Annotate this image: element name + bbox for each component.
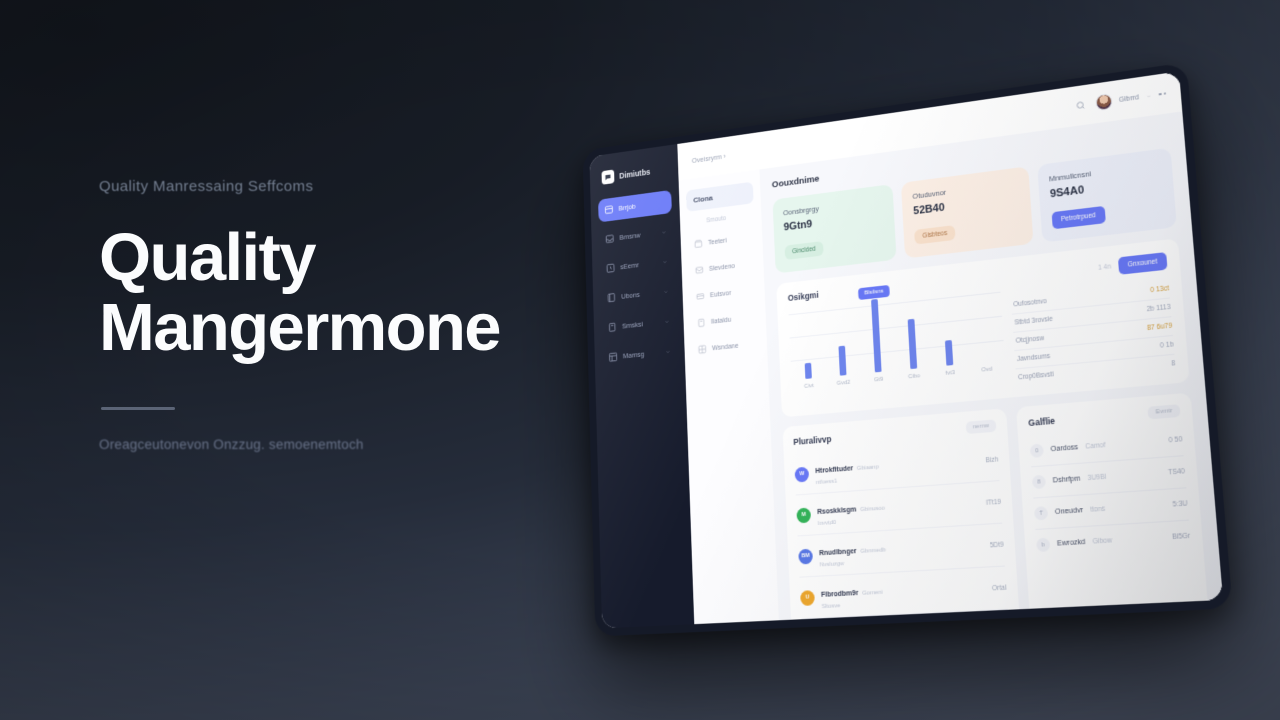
list-item-tag: Gbinusoo: [860, 505, 885, 513]
list-item-value: ITt19: [986, 498, 1001, 506]
card-icon: [696, 291, 705, 301]
avatar: W: [795, 466, 810, 482]
list-item-name: Flbrodbm9r: [821, 590, 859, 599]
list-item-tag: Gbiaanp: [857, 464, 879, 472]
bar-slot[interactable]: [788, 305, 826, 380]
sidebar-item-bmsnw[interactable]: Bmsnw: [599, 219, 673, 251]
subnav-label: Eutsvor: [710, 290, 731, 299]
chart-bar[interactable]: [838, 346, 846, 376]
chevron-down-icon: [661, 229, 666, 235]
page-title: Quality Mangermone: [99, 225, 569, 360]
bar-slot[interactable]: Blsilsns: [857, 297, 896, 373]
hero-title-line-1: Quality: [99, 220, 315, 295]
kpi-card[interactable]: Mnmullcnsni 9S4A0 Petrotrpued: [1037, 148, 1177, 243]
sidebar-label: Mamsg: [623, 350, 644, 361]
subnav-item-wsndane[interactable]: Wsndane: [691, 333, 760, 361]
chart-plot-area: Blsilsns: [788, 286, 1005, 381]
chart-bar[interactable]: [805, 362, 812, 378]
list-item-name: Rsoskklsgm: [817, 506, 856, 516]
bar-slot[interactable]: [927, 290, 968, 367]
subnav-label: Slevdeno: [709, 263, 735, 273]
stat-value: 0 1b: [1160, 341, 1174, 350]
file-icon: [607, 322, 617, 333]
stat-value: 8: [1171, 360, 1175, 368]
stat-name: Crop0Bsvsti: [1018, 371, 1054, 381]
list-item-meta: Flbrodbm9rGomeniSltosve: [821, 575, 986, 610]
topbar-actions: Glbrrd: [1073, 85, 1167, 114]
panel-action-button[interactable]: nernw: [965, 419, 996, 434]
chevron-down-icon: [664, 318, 669, 324]
bar-slot[interactable]: [963, 286, 1004, 364]
archive-icon: [694, 239, 703, 249]
bar-chart: Osikgmi Blsilsns CivtGvd2Gt9Cibofvt3Ovd: [788, 270, 1007, 407]
avatar: M: [796, 507, 811, 523]
layers-icon: [698, 344, 707, 354]
stat-name: Stbtd 3rovsie: [1014, 316, 1053, 327]
list-item-name: Htrokfituder: [815, 465, 853, 475]
grid-icon: [608, 351, 618, 362]
chevron-down-icon: [665, 348, 670, 354]
panel-title: Pluralivvp: [793, 434, 831, 447]
device-stage: Dimiutbs Brrjob Bmsnw sEemr: [556, 100, 1216, 630]
subnav-title[interactable]: Clona: [686, 182, 754, 212]
row-value: 5:3U: [1172, 500, 1188, 508]
stat-name: Otcjjnosw: [1015, 335, 1044, 345]
chevron-down-icon[interactable]: [1146, 93, 1152, 99]
breadcrumb[interactable]: Oveisryrm ›: [692, 151, 726, 164]
list-item-tag: Gbnmedb: [860, 547, 886, 555]
row-badge: 8: [1032, 475, 1046, 489]
chart-bar[interactable]: [908, 318, 918, 369]
panel-title: Galflie: [1028, 416, 1055, 428]
subnav-label: Teeteri: [708, 237, 727, 246]
row-badge: 0: [1030, 444, 1044, 458]
avatar: U: [800, 590, 815, 606]
stat-name: Javndsums: [1017, 353, 1051, 363]
kpi-card[interactable]: Oonsbrgrgy 9Gtn9 Ginclded: [772, 184, 896, 274]
dashboard-content: Oouxdnime Oonsbrgrgy 9Gtn9 Ginclded Otud…: [759, 111, 1223, 620]
chart-bar[interactable]: [871, 299, 882, 372]
x-tick-label: fvt3: [932, 369, 969, 378]
row-name: Ewrozkd: [1057, 539, 1086, 548]
row-value: TS40: [1168, 468, 1185, 477]
row-badge: T: [1034, 506, 1048, 520]
kpi-card[interactable]: Otuduvnor 52B40 Gisbteos: [901, 166, 1033, 258]
list-item-meta: Hmnvtumtu: [823, 618, 1003, 621]
row-value: 0 50: [1168, 436, 1182, 444]
x-tick-label: Ovd: [968, 365, 1005, 374]
chart-action-button[interactable]: Gnxounet: [1118, 252, 1168, 275]
subnav-item-ilataldu[interactable]: Ilataldu: [690, 306, 759, 334]
sidebar-item-ubons[interactable]: Ubons: [601, 279, 675, 311]
tablet-frame: Dimiutbs Brrjob Bmsnw sEemr: [583, 62, 1233, 636]
schedule-panel: Galflie Evmtr 0OardossCamof0 508Dshrfpm3…: [1016, 393, 1210, 621]
row-badge: b: [1036, 538, 1050, 552]
row-name: Oardoss: [1051, 444, 1079, 453]
inbox-icon: [605, 233, 615, 244]
x-tick-label: Gvd2: [826, 379, 861, 388]
subnav-item-slevdeno[interactable]: Slevdeno: [688, 253, 756, 282]
x-tick-label: Cibo: [896, 372, 932, 381]
mail-icon: [695, 265, 704, 275]
bottom-panels: Pluralivvp nernw WHtrokfituderGbiaanpntf…: [783, 393, 1211, 621]
sidebar-item-smsksi[interactable]: Smsksi: [601, 309, 676, 340]
chevron-down-icon: [662, 259, 667, 265]
row-description: Gibow: [1092, 537, 1112, 546]
brand-name: Dimiutbs: [619, 167, 650, 180]
chart-bar[interactable]: [945, 340, 953, 366]
list-item-value: 5Dt9: [990, 541, 1004, 549]
list-item-subtitle: Sltosve: [822, 596, 986, 610]
chart-tooltip: Blsilsns: [858, 285, 889, 300]
sidebar-label: Brrjob: [618, 202, 635, 212]
list-item-name: Rnudlbnger: [819, 548, 857, 557]
row-description: Camof: [1085, 442, 1106, 451]
kpi-action-button[interactable]: Petrotrpued: [1051, 206, 1105, 229]
primary-sidebar: Dimiutbs Brrjob Bmsnw sEemr: [589, 144, 694, 628]
stat-value: 2b 1113: [1146, 304, 1170, 314]
row-description: 3U9Bl: [1087, 474, 1106, 483]
subnav-item-eutsvor[interactable]: Eutsvor: [689, 280, 757, 308]
chart-stats: 1 4n Gnxounet Oufosotnvo0 13ctStbtd 3rov…: [1009, 251, 1176, 387]
bar-slot[interactable]: [892, 294, 932, 371]
stat-name: Oufosotnvo: [1013, 298, 1047, 309]
dashboard-icon: [604, 204, 614, 215]
hero-subtitle: Oreagceutonevon Onzzug. semoenemtoch: [99, 437, 569, 452]
chevron-down-icon: [663, 288, 668, 294]
subnav-label: Wsndane: [712, 342, 739, 351]
chart-range-label[interactable]: 1 4n: [1098, 263, 1112, 272]
hero-section: Quality Manressaing Seffcoms Quality Man…: [99, 178, 569, 452]
stat-value: 0 13ct: [1150, 285, 1169, 294]
avatar[interactable]: [1095, 93, 1113, 111]
note-icon: [697, 318, 706, 328]
sidebar-label: Smsksi: [622, 320, 643, 331]
row-name: Oneudvr: [1055, 507, 1083, 516]
row-name: Dshrfpm: [1053, 475, 1081, 484]
x-tick-label: Gt9: [861, 375, 897, 384]
more-dots-icon[interactable]: [1159, 92, 1167, 96]
subnav-label: Ilataldu: [711, 316, 731, 325]
list-item-tag: Gomeni: [862, 590, 883, 597]
row-description: ttons: [1090, 506, 1105, 514]
username-label: Glbrrd: [1119, 94, 1140, 104]
hero-eyebrow: Quality Manressaing Seffcoms: [99, 178, 569, 195]
search-icon[interactable]: [1073, 97, 1089, 114]
activity-panel: Pluralivvp nernw WHtrokfituderGbiaanpntf…: [783, 408, 1022, 620]
clock-icon: [606, 263, 616, 274]
row-value: Bi5Gr: [1172, 533, 1191, 542]
hero-title-line-2: Mangermone: [99, 295, 569, 361]
app-logo-icon: [601, 169, 614, 184]
sidebar-label: Bmsnw: [619, 231, 640, 242]
list-item-meta: HtrokfituderGbiaanpntfoess1: [815, 448, 980, 487]
book-icon: [607, 292, 617, 303]
avatar: BM: [798, 548, 813, 564]
stat-value: 87 6u79: [1147, 322, 1173, 332]
list-item-value: Ortal: [992, 584, 1007, 592]
list-item-meta: RnudlbngerGbnmedbNvsluzgw: [819, 532, 984, 568]
list-item-meta: RsoskklsgmGbinusooInvvtd0: [817, 490, 980, 527]
list-item-value: Bizh: [985, 456, 998, 464]
divider: [101, 407, 175, 410]
sidebar-label: Ubons: [621, 290, 640, 300]
content-row: Clona Smouto Teeteri Slevdeno: [679, 111, 1223, 624]
sidebar-item-mamsg[interactable]: Mamsg: [602, 339, 677, 370]
bar-slot[interactable]: [822, 301, 860, 377]
sidebar-label: sEemr: [620, 261, 639, 272]
x-tick-label: Civt: [792, 382, 827, 391]
dashboard-screen: Dimiutbs Brrjob Bmsnw sEemr: [589, 71, 1223, 628]
status-badge: Ginclded: [785, 241, 824, 260]
status-badge: Gisbteos: [914, 225, 955, 244]
main-pane: Oveisryrm › Glbrrd Clona Smouto: [677, 71, 1223, 624]
sidebar-item-seemr[interactable]: sEemr: [600, 249, 674, 281]
panel-action-button[interactable]: Evmtr: [1148, 404, 1181, 419]
